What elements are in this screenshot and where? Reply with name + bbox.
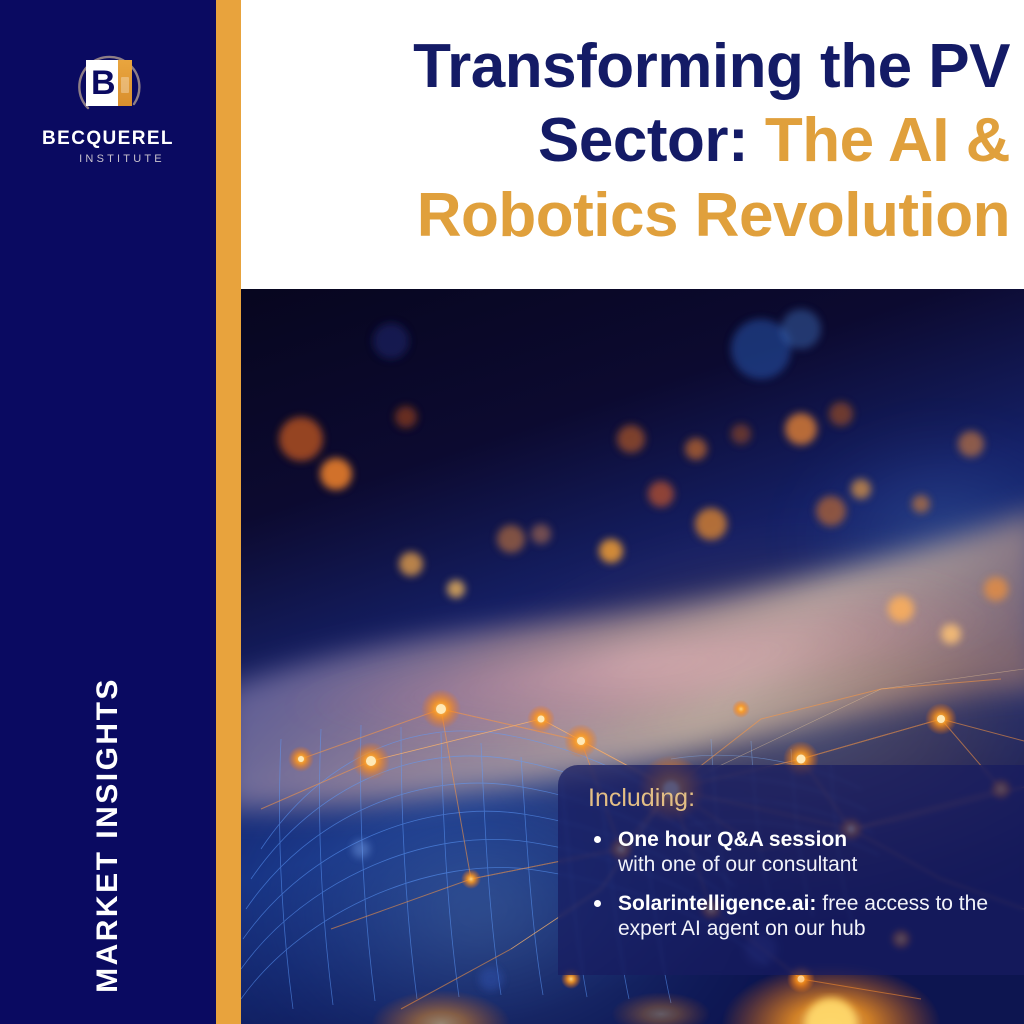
brand-subtitle: INSTITUTE bbox=[79, 153, 165, 165]
bullet-dot-icon bbox=[594, 900, 601, 907]
bullet-bold-text: One hour Q&A session bbox=[618, 828, 847, 851]
title-line-2-navy: Sector: bbox=[538, 106, 748, 175]
bullet-dot-icon bbox=[594, 836, 601, 843]
title-header: Transforming the PV Sector: The AI & Rob… bbox=[241, 0, 1024, 289]
brand-name: BECQUEREL bbox=[42, 128, 174, 150]
brand-logo: B BECQUEREL INSTITUTE bbox=[0, 48, 216, 165]
logo-letter-i-bar bbox=[118, 60, 132, 106]
info-card-heading: Including: bbox=[588, 785, 1006, 813]
becquerel-monogram-icon: B bbox=[60, 48, 156, 120]
list-item: One hour Q&A session with one of our con… bbox=[588, 827, 1006, 877]
title-line-3: Robotics Revolution bbox=[417, 181, 1010, 250]
page-title: Transforming the PV Sector: The AI & Rob… bbox=[413, 30, 1010, 253]
accent-stripe bbox=[216, 0, 241, 1024]
bi-letters: B bbox=[86, 60, 132, 106]
poster-canvas: B BECQUEREL INSTITUTE MARKET INSIGHTS Tr… bbox=[0, 0, 1024, 1024]
bullet-rest-text: with one of our consultant bbox=[618, 853, 857, 876]
title-line-2-gold: The AI & bbox=[748, 106, 1010, 175]
list-item: Solarintelligence.ai: free access to the… bbox=[588, 891, 1006, 941]
info-card-bullet-list: One hour Q&A session with one of our con… bbox=[588, 827, 1006, 942]
title-line-1: Transforming the PV bbox=[413, 32, 1010, 101]
info-card: Including: One hour Q&A session with one… bbox=[558, 765, 1024, 975]
logo-letter-b: B bbox=[86, 60, 118, 106]
bullet-bold-text: Solarintelligence.ai: bbox=[618, 892, 816, 915]
